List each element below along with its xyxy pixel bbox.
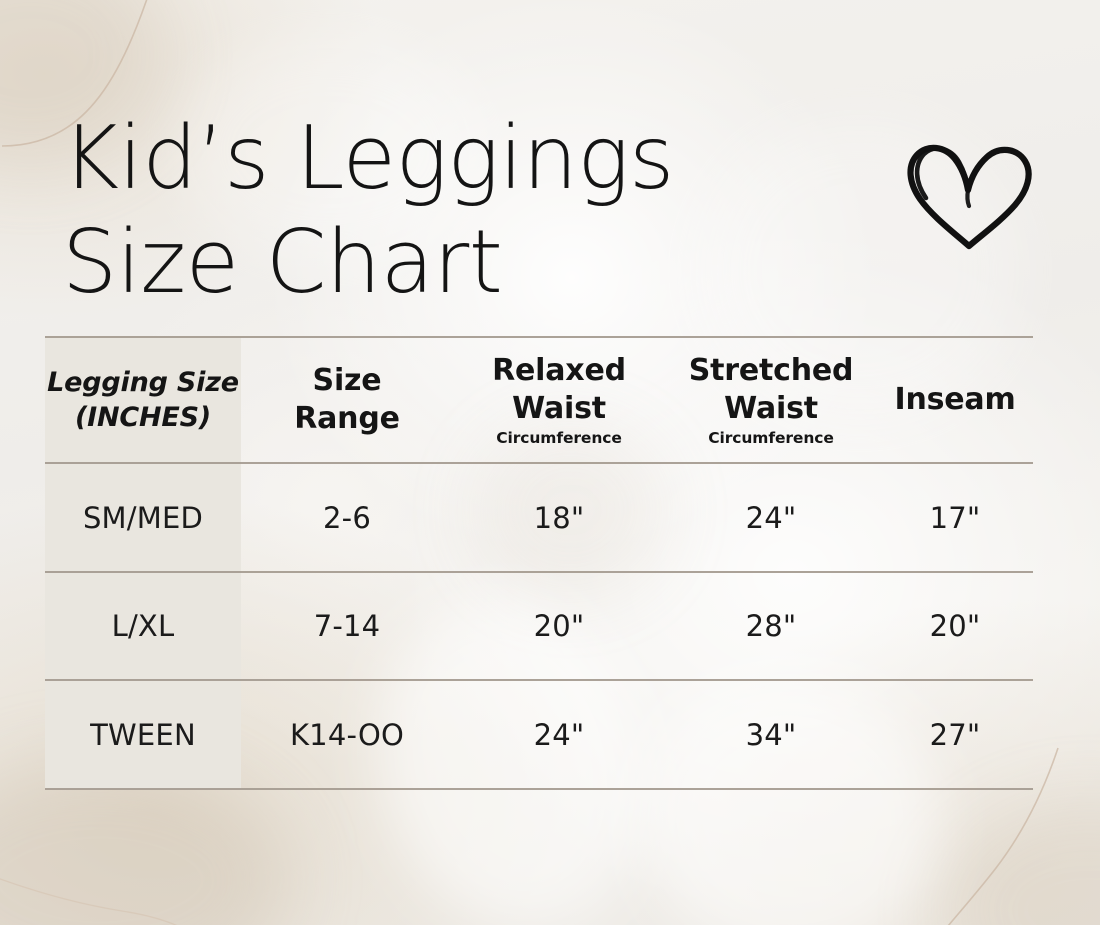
cell-range: K14-OO [241, 718, 453, 752]
table-row: L/XL 7-14 20" 28" 20" [45, 573, 1033, 679]
heart-doodle-icon [899, 124, 1043, 260]
header-inseam-label: Inseam [894, 381, 1015, 419]
cell-range: 2-6 [241, 501, 453, 535]
header-stretched-waist-label: Stretched Waist [689, 352, 854, 428]
table-row: TWEEN K14-OO 24" 34" 27" [45, 681, 1033, 788]
cell-inseam: 20" [877, 609, 1033, 643]
value-size: SM/MED [83, 501, 203, 535]
value-range: 2-6 [323, 501, 371, 535]
header-cell-stretched-waist: Stretched Waist Circumference [665, 352, 877, 448]
header-relaxed-waist-sublabel: Circumference [496, 429, 622, 448]
value-inseam: 20" [930, 609, 981, 643]
value-range: 7-14 [314, 609, 381, 643]
cell-size: L/XL [45, 609, 241, 643]
value-relaxed-waist: 18" [534, 501, 585, 535]
cell-size: TWEEN [45, 718, 241, 752]
cell-inseam: 17" [877, 501, 1033, 535]
value-size: L/XL [112, 609, 175, 643]
value-range: K14-OO [290, 718, 404, 752]
header-stretched-waist-sublabel: Circumference [708, 429, 834, 448]
cell-relaxed-waist: 18" [453, 501, 665, 535]
value-inseam: 17" [930, 501, 981, 535]
header-cell-relaxed-waist: Relaxed Waist Circumference [453, 352, 665, 448]
header-cell-legging-size: Legging Size (INCHES) [45, 365, 241, 435]
cell-stretched-waist: 28" [665, 609, 877, 643]
page-title: Kid’s Leggings Size Chart [62, 106, 762, 314]
cell-relaxed-waist: 20" [453, 609, 665, 643]
header-cell-size-range: Size Range [241, 362, 453, 438]
cell-stretched-waist: 34" [665, 718, 877, 752]
value-stretched-waist: 34" [746, 718, 797, 752]
cell-size: SM/MED [45, 501, 241, 535]
cell-range: 7-14 [241, 609, 453, 643]
value-relaxed-waist: 20" [534, 609, 585, 643]
table-header-row: Legging Size (INCHES) Size Range Relaxed… [45, 338, 1033, 462]
value-size: TWEEN [90, 718, 196, 752]
value-relaxed-waist: 24" [534, 718, 585, 752]
value-inseam: 27" [930, 718, 981, 752]
header-size-range-label: Size Range [294, 362, 400, 438]
value-stretched-waist: 28" [746, 609, 797, 643]
cell-stretched-waist: 24" [665, 501, 877, 535]
size-chart-table: Legging Size (INCHES) Size Range Relaxed… [45, 336, 1033, 791]
header-relaxed-waist-label: Relaxed Waist [492, 352, 626, 428]
cell-inseam: 27" [877, 718, 1033, 752]
header-legging-size-label: Legging Size (INCHES) [47, 365, 239, 435]
value-stretched-waist: 24" [746, 501, 797, 535]
cell-relaxed-waist: 24" [453, 718, 665, 752]
table-row: SM/MED 2-6 18" 24" 17" [45, 464, 1033, 571]
header-cell-inseam: Inseam [877, 381, 1033, 419]
